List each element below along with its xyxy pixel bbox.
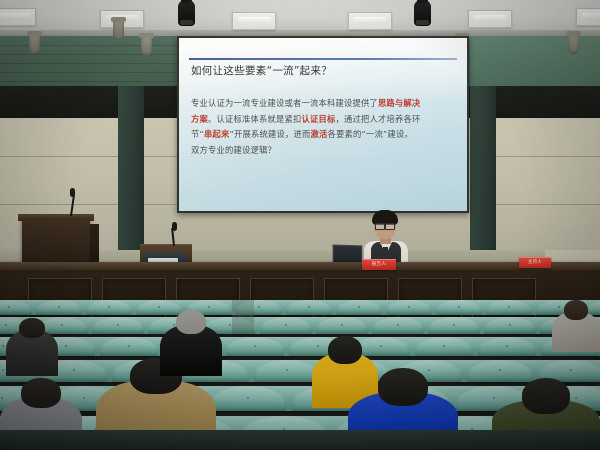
slide-highlight-text: 激活: [310, 129, 327, 139]
speaker-nameplate: 报告人: [362, 259, 396, 270]
speaker-nameplate-text: 报告人: [362, 260, 396, 269]
seat-row: [0, 317, 600, 334]
aisle-floor: [0, 430, 600, 450]
slide-plain-text: 专业认证为一流专业建设或者一流本科建设提供了: [191, 98, 378, 108]
wall-sconce: [568, 34, 579, 54]
seat-row: [0, 337, 600, 356]
auditorium-seat[interactable]: [86, 300, 132, 315]
auditorium-seat[interactable]: [386, 300, 432, 315]
slide-plain-text: ”开展系统建设，进而: [230, 129, 311, 139]
slide-plain-text: 双方专业的建设逻辑？: [191, 145, 276, 155]
slide-highlight-text: 认证目标: [301, 114, 335, 124]
desk-microphone-head: [172, 222, 177, 231]
slide-title: 如何让这些要素“一流”起来？: [191, 63, 457, 78]
ceiling-light-panel: [232, 12, 276, 30]
ceiling-light-panel: [576, 8, 600, 26]
upper-wall-green-right: [470, 36, 600, 90]
auditorium-seat[interactable]: [372, 317, 424, 334]
slide-body-line: 方案。认证标准体系就是紧扣认证目标，通过把人才培养各环: [191, 112, 457, 127]
wall-sconce: [113, 20, 124, 40]
person-gray-hair: [160, 310, 222, 376]
auditorium-seat[interactable]: [428, 317, 480, 334]
slide-body-line: 双方专业的建设逻辑？: [191, 143, 457, 158]
auditorium-seat[interactable]: [286, 300, 332, 315]
auditorium-seat[interactable]: [486, 300, 532, 315]
auditorium-seat[interactable]: [100, 337, 158, 356]
seating-aisle: [232, 300, 254, 334]
ceiling-light-panel: [468, 10, 512, 28]
slide-plain-text: 节“: [191, 129, 204, 139]
auditorium-seat[interactable]: [436, 300, 482, 315]
ceiling-spotlight: [414, 0, 431, 26]
audience-head: [328, 336, 362, 364]
side-nameplate-text: 主持人: [519, 258, 551, 267]
audience-head: [176, 310, 206, 334]
auditorium-seat[interactable]: [260, 317, 312, 334]
slide-body-line: 节“串起来”开展系统建设，进而激活各要素的“一流”建设。: [191, 127, 457, 142]
slide-highlight-text: 串起来: [204, 129, 230, 139]
wall-pillar-left: [118, 86, 144, 253]
wall-sconce: [29, 34, 40, 54]
slide-title-rule: [189, 58, 457, 60]
slide-highlight-text: 方案: [191, 114, 208, 124]
wall-pillar-right: [470, 86, 496, 253]
auditorium-seat[interactable]: [336, 300, 382, 315]
audience-head: [378, 368, 428, 406]
podium-microphone-head: [70, 188, 75, 197]
auditorium-seat[interactable]: [0, 300, 32, 315]
auditorium-seat[interactable]: [316, 317, 368, 334]
slide-body-text: 专业认证为一流专业建设或者一流本科建设提供了思路与解决方案。认证标准体系就是紧扣…: [191, 96, 457, 158]
lecture-hall-photo: 如何让这些要素“一流”起来？ 专业认证为一流专业建设或者一流本科建设提供了思路与…: [0, 0, 600, 450]
ceiling-light-panel: [348, 12, 392, 30]
slide-plain-text: ，通过把人才培养各环: [335, 114, 420, 124]
ceiling-spotlight: [178, 0, 195, 26]
auditorium-seat[interactable]: [226, 337, 284, 356]
projection-screen: 如何让这些要素“一流”起来？ 专业认证为一流专业建设或者一流本科建设提供了思路与…: [179, 38, 467, 211]
auditorium-seat[interactable]: [92, 317, 144, 334]
glasses-icon: [375, 223, 395, 228]
slide-highlight-text: 思路与解决: [378, 98, 421, 108]
auditorium-seat[interactable]: [254, 360, 320, 382]
audience-head: [564, 300, 588, 320]
side-nameplate: 主持人: [519, 257, 551, 268]
audience-head: [19, 318, 45, 338]
auditorium-seat[interactable]: [36, 300, 82, 315]
auditorium-seat[interactable]: [484, 317, 536, 334]
slide-body-line: 专业认证为一流专业建设或者一流本科建设提供了思路与解决: [191, 96, 457, 111]
slide-plain-text: 。认证标准体系就是紧扣: [208, 114, 301, 124]
audience-head: [522, 378, 570, 414]
person-light-top-right: [552, 300, 600, 352]
seat-row: [0, 300, 600, 315]
audience-head: [21, 378, 61, 408]
auditorium-seat[interactable]: [478, 337, 536, 356]
auditorium-seat[interactable]: [415, 337, 473, 356]
person-dark-suit-left: [6, 318, 58, 376]
wall-sconce: [141, 36, 152, 56]
ceiling-light-panel: [0, 8, 36, 26]
auditorium-seat[interactable]: [210, 386, 286, 411]
slide-plain-text: 各要素的“一流”建设。: [327, 129, 412, 139]
